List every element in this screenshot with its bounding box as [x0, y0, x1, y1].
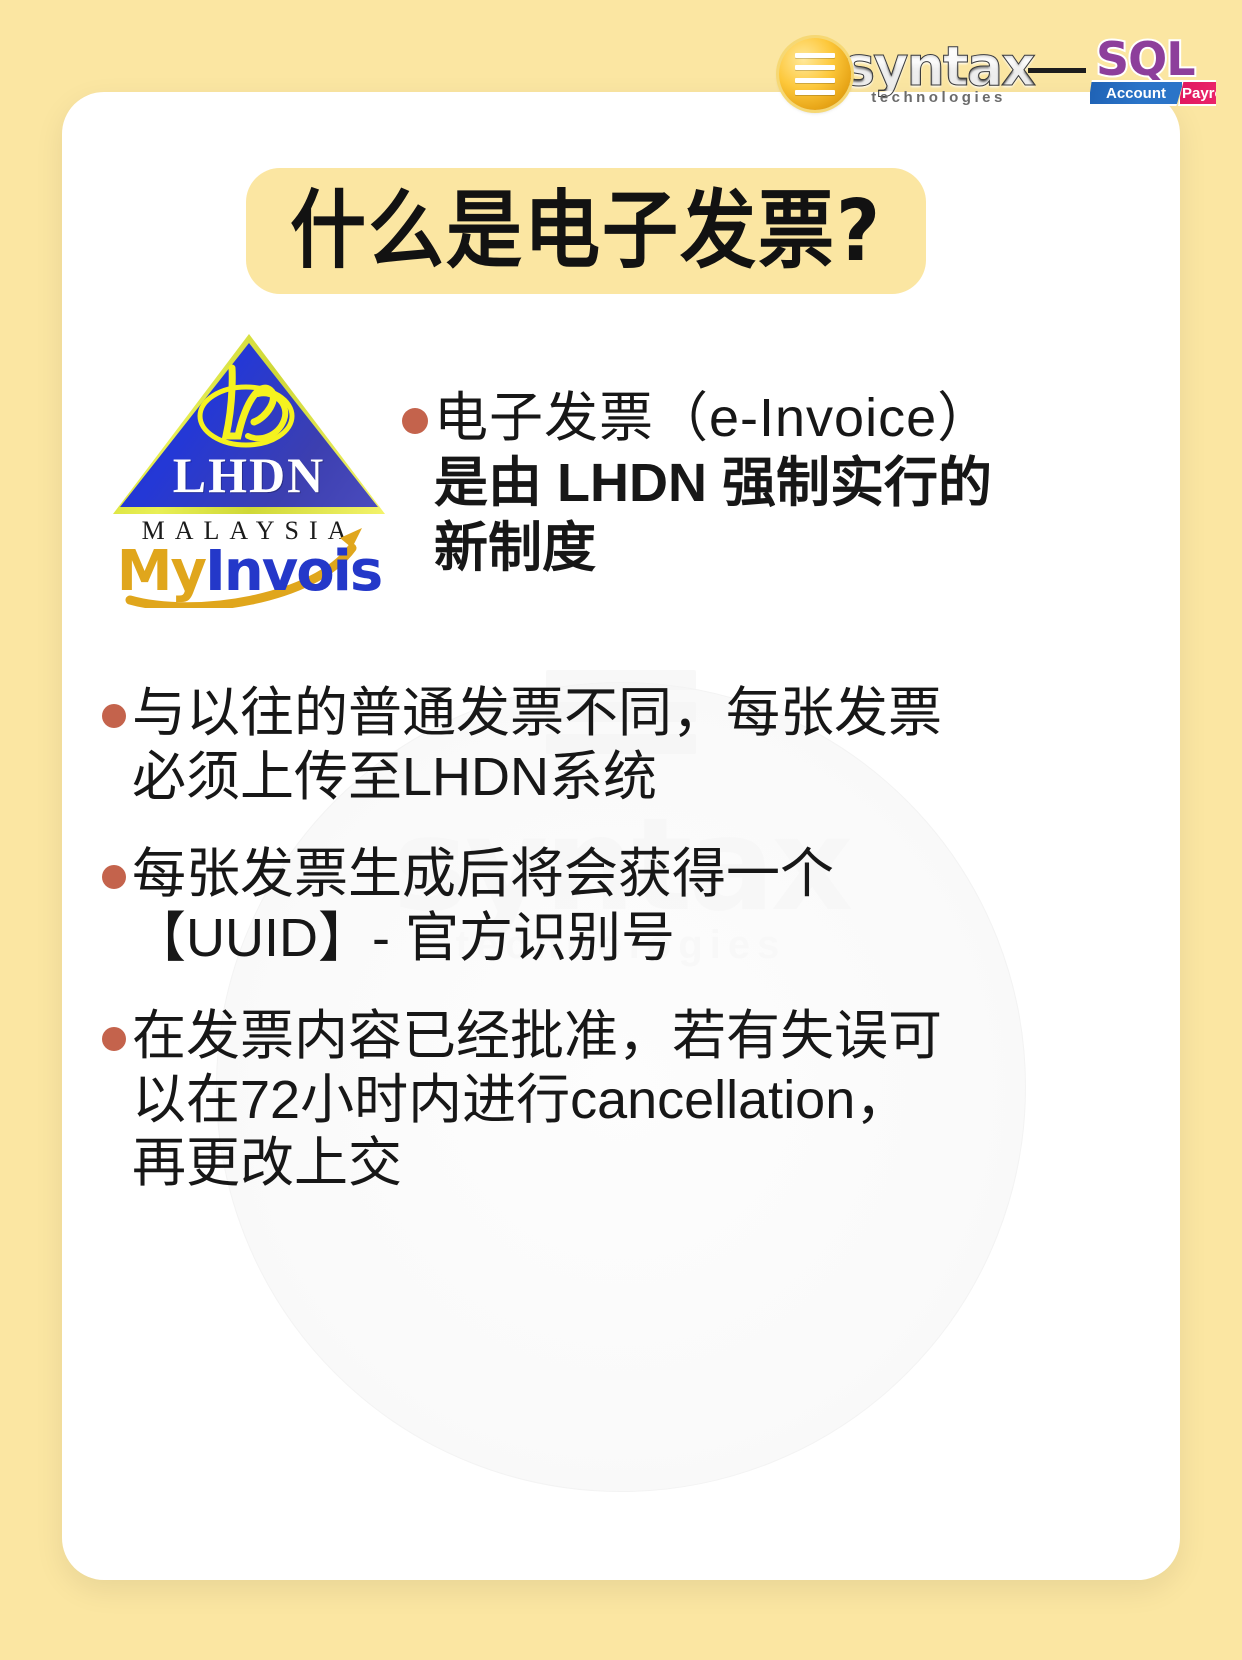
lhdn-monogram-icon — [174, 360, 324, 456]
bullet-line: 电子发票（e-Invoice） — [434, 386, 992, 451]
bullet-line: 新制度 — [434, 516, 992, 581]
bullet-item: 电子发票（e-Invoice） 是由 LHDN 强制实行的 新制度 — [402, 386, 1134, 580]
coin-server-icon — [779, 38, 851, 110]
sql-logo: SQL Account Payroll — [1090, 36, 1216, 112]
bullet-item: 在发票内容已经批准，若有失误可 以在72小时内进行cancellation， 再… — [102, 1005, 1146, 1196]
bullet-item: 每张发票生成后将会获得一个 【UUID】- 官方识别号 — [102, 843, 1146, 970]
bullet-line: 以在72小时内进行cancellation， — [132, 1069, 942, 1133]
header-logo-bar: syntax technologies SQL Account Payroll — [0, 28, 1242, 120]
sql-wordmark: SQL — [1096, 36, 1195, 86]
syntax-tagline: technologies — [871, 89, 1006, 106]
first-bullet-block: 电子发票（e-Invoice） 是由 LHDN 强制实行的 新制度 — [402, 328, 1180, 580]
bullet-line: 必须上传至LHDN系统 — [132, 746, 942, 810]
bullet-list: 与以往的普通发票不同，每张发票 必须上传至LHDN系统 每张发票生成后将会获得一… — [102, 682, 1146, 1230]
bullet-dot-icon — [402, 408, 428, 434]
bullet-line: 再更改上交 — [132, 1132, 942, 1196]
sql-payroll-badge: Payroll — [1178, 80, 1216, 106]
logo-divider-rule — [1028, 68, 1086, 73]
syntax-wordmark: syntax — [843, 42, 1034, 92]
infographic-page: syntax technologies SQL Account Payroll … — [0, 0, 1242, 1660]
bullet-line: 与以往的普通发票不同，每张发票 — [132, 682, 942, 746]
bullet-item: 与以往的普通发票不同，每张发票 必须上传至LHDN系统 — [102, 682, 1146, 809]
lhdn-triangle-emblem: LHDN — [113, 334, 385, 514]
bullet-dot-icon — [102, 865, 126, 889]
bullet-line: 每张发票生成后将会获得一个 — [132, 843, 834, 907]
sql-account-badge: Account — [1090, 80, 1184, 106]
hero-row: LHDN MALAYSIA MyInvois 电子 — [62, 328, 1180, 628]
bullet-line: 在发票内容已经批准，若有失误可 — [132, 1005, 942, 1069]
myinvois-wordmark: MyInvois — [96, 544, 402, 608]
bullet-dot-icon — [102, 1027, 126, 1051]
page-title: 什么是电子发票? — [290, 188, 882, 273]
lhdn-acronym: LHDN — [113, 446, 385, 504]
bullet-dot-icon — [102, 704, 126, 728]
bullet-line: 【UUID】- 官方识别号 — [132, 907, 834, 971]
syntax-logo: syntax technologies — [779, 35, 1034, 113]
myinvois-prefix: My — [117, 539, 205, 604]
bullet-line: 是由 LHDN 强制实行的 — [434, 451, 992, 516]
myinvois-suffix: Invois — [205, 539, 381, 604]
content-card: syntax technologies 什么是电子发票? LHDN — [62, 92, 1180, 1580]
title-banner: 什么是电子发票? — [246, 168, 926, 294]
lhdn-myinvois-logo: LHDN MALAYSIA MyInvois — [96, 328, 402, 608]
